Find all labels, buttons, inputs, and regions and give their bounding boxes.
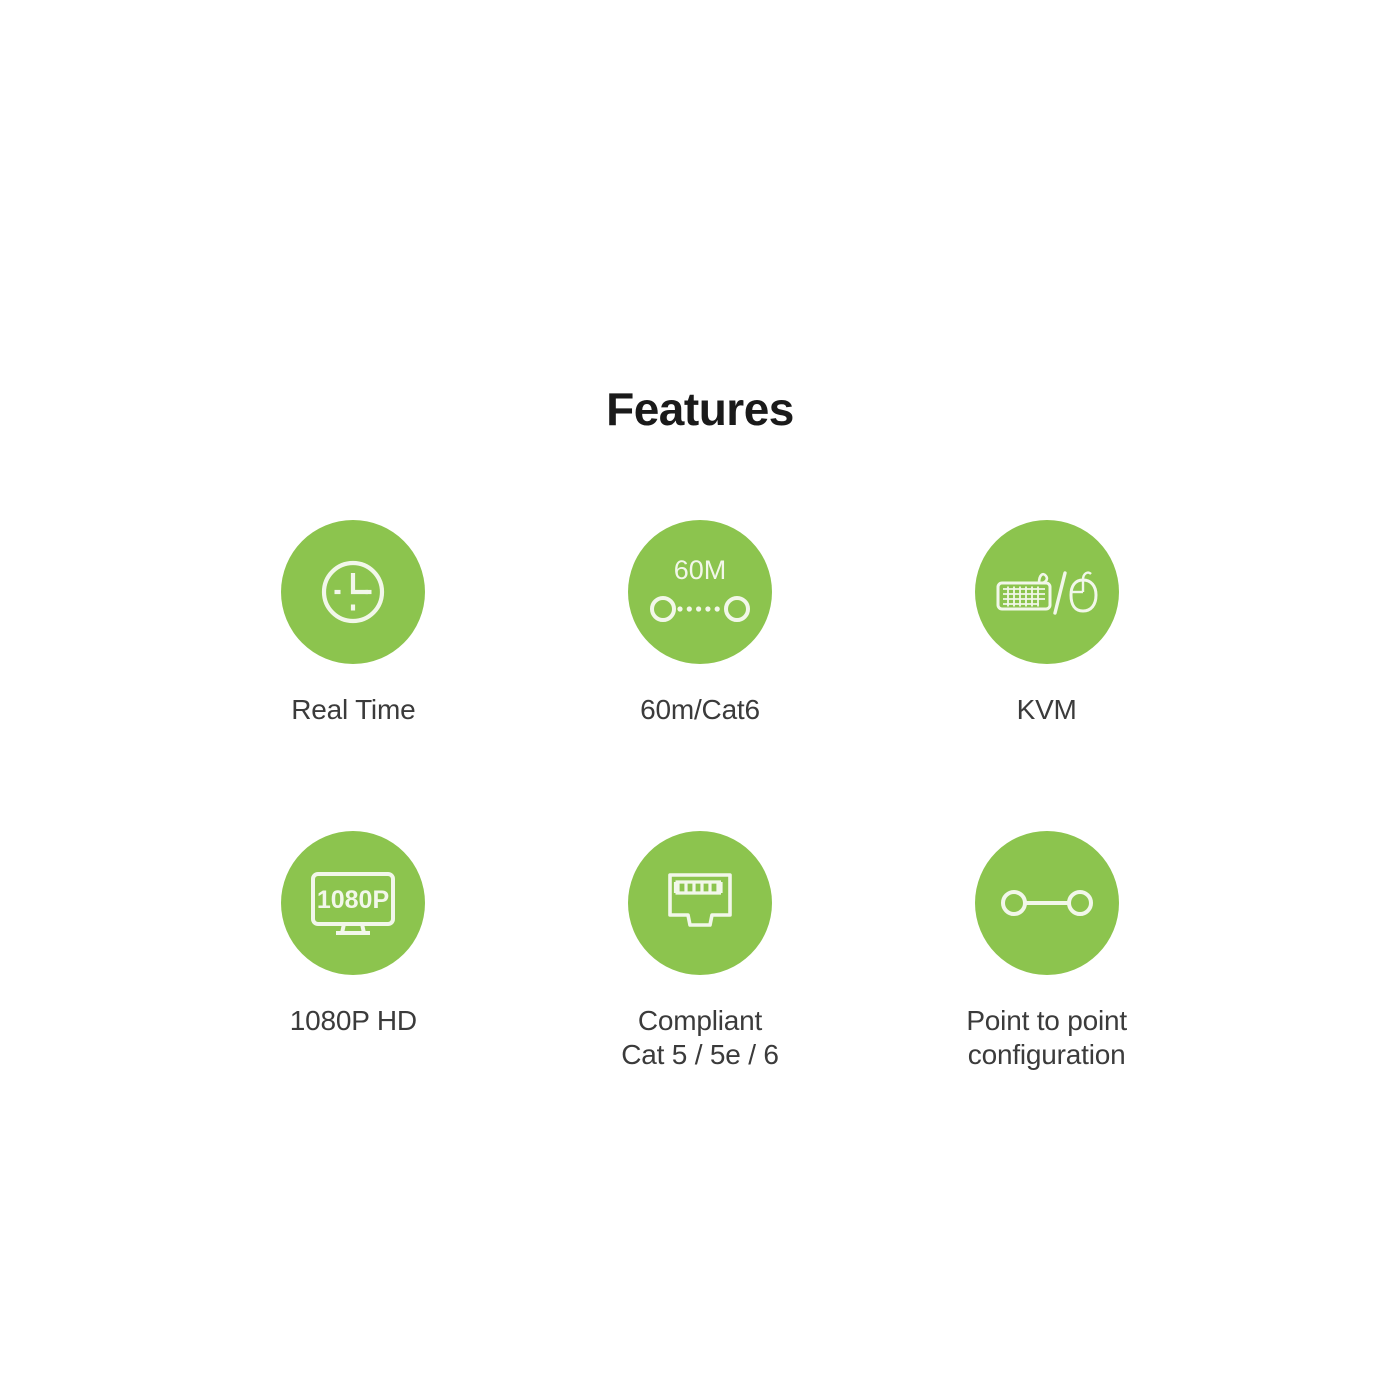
feature-badge-compliant-cat xyxy=(628,831,772,975)
monitor-icon: 1080P xyxy=(308,867,398,939)
feature-label-60m-cat6: 60m/Cat6 xyxy=(640,693,760,727)
feature-badge-60m-cat6: 60M xyxy=(628,520,772,664)
feature-label-1080p-hd: 1080P HD xyxy=(290,1004,417,1038)
feature-badge-kvm xyxy=(975,520,1119,664)
feature-label-kvm: KVM xyxy=(1017,693,1077,727)
page-title: Features xyxy=(0,386,1400,432)
feature-badge-real-time xyxy=(281,520,425,664)
clock-icon xyxy=(316,555,390,629)
rj45-port-icon xyxy=(664,867,736,939)
monitor-icon-text: 1080P xyxy=(317,886,389,914)
distance-link-icon: 60M xyxy=(648,549,752,635)
feature-badge-1080p-hd: 1080P xyxy=(281,831,425,975)
feature-item-1080p-hd[interactable]: 1080P 1080P HD xyxy=(180,831,527,1072)
feature-item-kvm[interactable]: KVM xyxy=(873,520,1220,727)
point-to-point-icon xyxy=(1000,885,1094,921)
feature-label-compliant-cat: Compliant Cat 5 / 5e / 6 xyxy=(621,1004,779,1072)
distance-link-icon-text: 60M xyxy=(674,555,727,585)
feature-label-real-time: Real Time xyxy=(291,693,415,727)
feature-item-real-time[interactable]: Real Time xyxy=(180,520,527,727)
feature-label-point-to-point: Point to point configuration xyxy=(966,1004,1127,1072)
feature-badge-point-to-point xyxy=(975,831,1119,975)
feature-item-point-to-point[interactable]: Point to point configuration xyxy=(873,831,1220,1072)
feature-item-60m-cat6[interactable]: 60M 60m/Cat6 xyxy=(527,520,874,727)
feature-item-compliant-cat[interactable]: Compliant Cat 5 / 5e / 6 xyxy=(527,831,874,1072)
keyboard-mouse-icon xyxy=(995,563,1099,621)
features-page: Features Real Time xyxy=(0,0,1400,1400)
features-grid: Real Time 60M xyxy=(180,520,1220,1072)
